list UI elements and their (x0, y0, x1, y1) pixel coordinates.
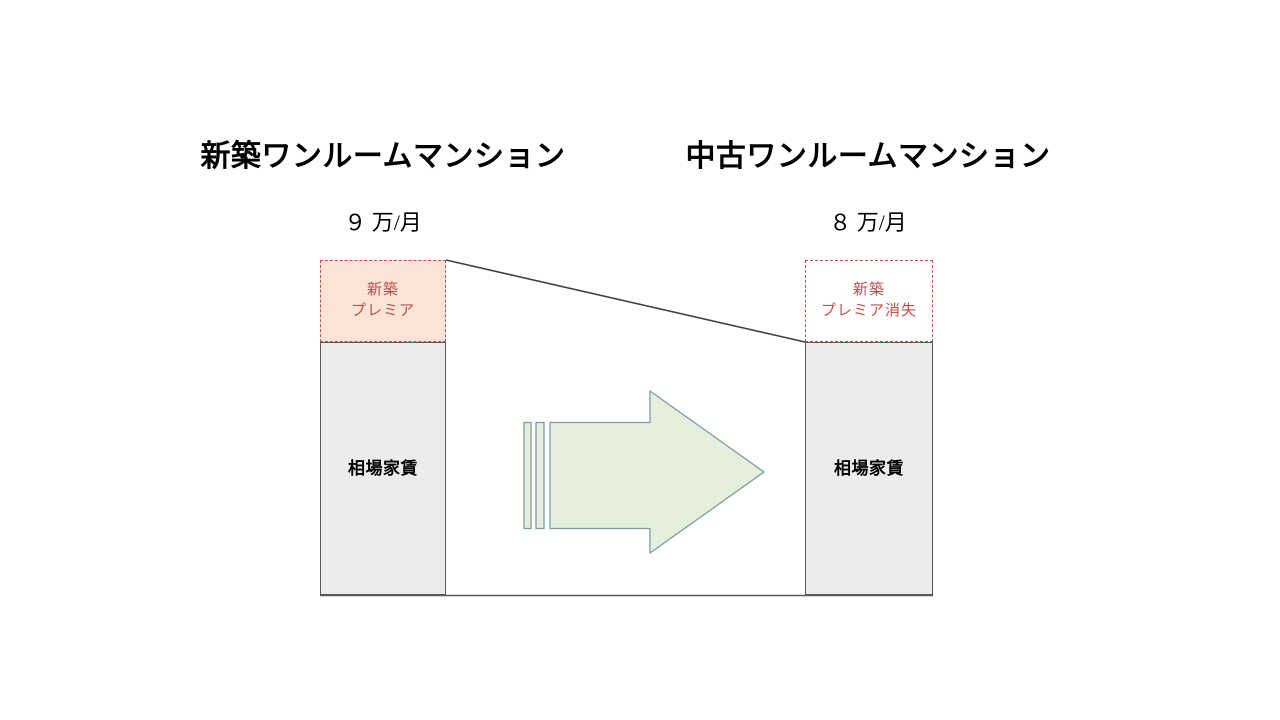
arrow-stripe-2 (536, 423, 544, 529)
arrow-stripe-1 (524, 423, 531, 529)
arrow-body (550, 391, 764, 553)
arrow-layer (0, 0, 1280, 720)
slide-canvas: 新築ワンルームマンション ９ 万/月 中古ワンルームマンション ８ 万/月 新築… (0, 0, 1280, 720)
striped-right-arrow-icon[interactable] (524, 391, 764, 553)
